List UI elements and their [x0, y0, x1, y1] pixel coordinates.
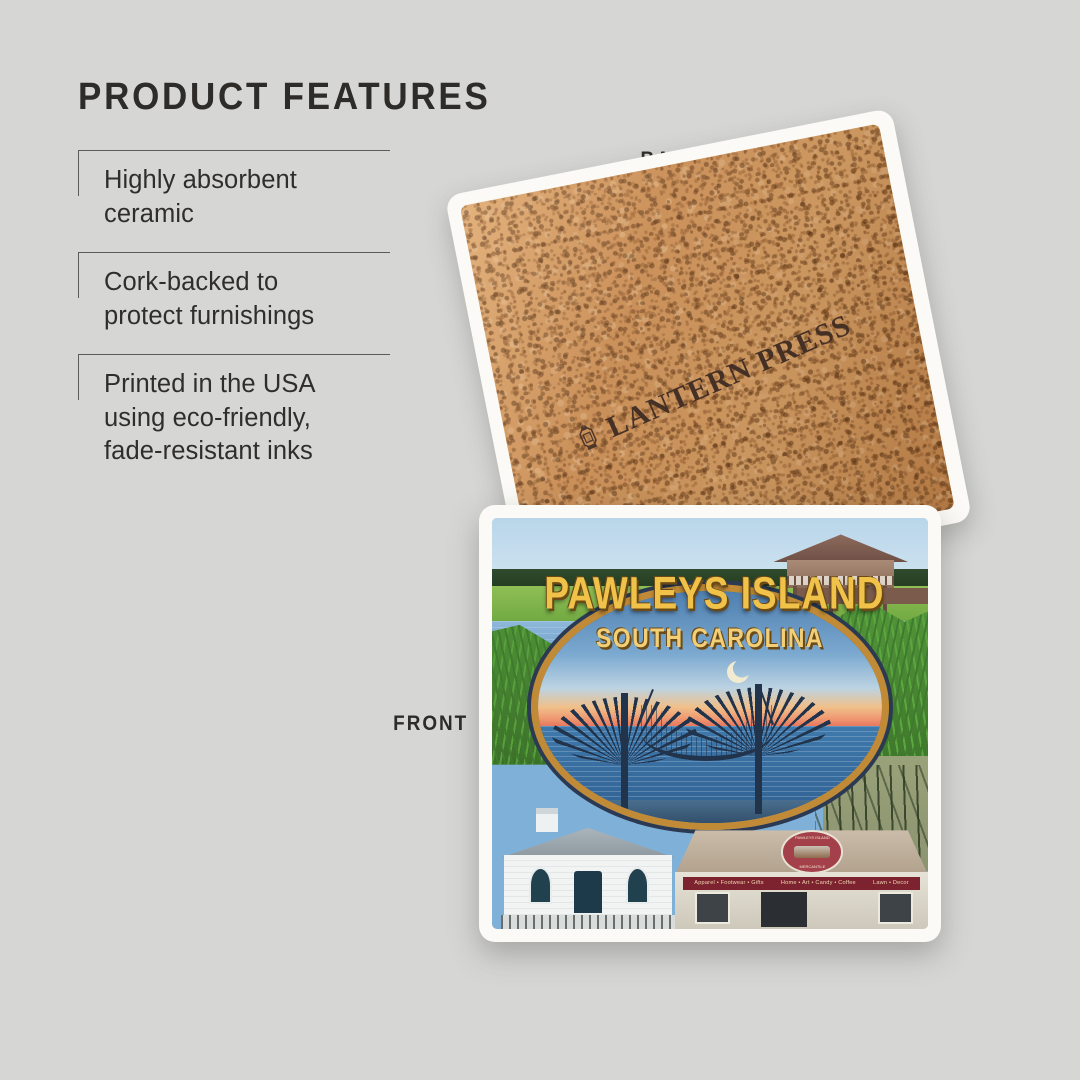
store-door [761, 892, 807, 928]
chapel-cupola [536, 808, 559, 832]
artwork-title-block: PAWLEYS ISLAND SOUTH CAROLINA [544, 576, 875, 653]
artwork-title: PAWLEYS ISLAND [544, 572, 875, 615]
chapel-window [626, 867, 649, 903]
label-front: FRONT [393, 712, 468, 736]
divider [78, 252, 390, 253]
brand-name: LANTERN PRESS [601, 309, 856, 446]
divider-tick [78, 354, 79, 400]
store-window [695, 892, 729, 924]
artwork-subtitle: SOUTH CAROLINA [544, 623, 875, 654]
coaster-front-view: PAWLEYS ISLAND SOUTH CAROLINA PAWLEYS IS… [479, 505, 941, 942]
feature-list: Highly absorbent ceramic Cork-backed to … [78, 150, 408, 489]
feature-text: Printed in the USA using eco-friendly, f… [104, 368, 408, 470]
divider [78, 150, 390, 151]
store-sign-segment: Lawn • Decor [873, 880, 909, 886]
mercantile-storefront: PAWLEYS ISLAND MERCANTILE Apparel • Foot… [675, 830, 928, 929]
palm-tree-left [621, 693, 628, 814]
mercantile-seal: PAWLEYS ISLAND MERCANTILE [781, 830, 843, 873]
chapel-deck-railing [501, 915, 675, 929]
feature-text: Cork-backed to protect furnishings [104, 266, 408, 334]
list-item: Printed in the USA using eco-friendly, f… [78, 354, 408, 490]
divider [78, 354, 390, 355]
chapel-roof [501, 828, 675, 858]
divider-tick [78, 150, 79, 196]
store-sign-band: Apparel • Footwear • Gifts Home • Art • … [683, 877, 921, 890]
product-image-canvas: PRODUCT FEATURES Highly absorbent cerami… [0, 0, 1080, 1080]
crescent-moon-icon [727, 661, 749, 683]
seal-top-text: PAWLEYS ISLAND [795, 835, 829, 840]
woody-wagon-icon [794, 846, 830, 858]
hammock [641, 705, 772, 761]
feature-text: Highly absorbent ceramic [104, 164, 408, 232]
store-sign-segment: Apparel • Footwear • Gifts [694, 880, 763, 886]
chapel-window [529, 867, 552, 903]
list-item: Cork-backed to protect furnishings [78, 252, 408, 354]
seal-bottom-text: MERCANTILE [800, 864, 826, 869]
lantern-icon [570, 420, 605, 457]
divider-tick [78, 252, 79, 298]
white-chapel [501, 814, 675, 929]
artwork: PAWLEYS ISLAND SOUTH CAROLINA PAWLEYS IS… [492, 518, 928, 929]
product-features-panel: PRODUCT FEATURES Highly absorbent cerami… [78, 78, 408, 489]
store-window [878, 892, 912, 924]
store-sign-segment: Home • Art • Candy • Coffee [781, 880, 856, 886]
chapel-door [574, 871, 602, 912]
page-title: PRODUCT FEATURES [78, 78, 382, 116]
dock-roof [773, 534, 909, 562]
list-item: Highly absorbent ceramic [78, 150, 408, 252]
brand-stamp: LANTERN PRESS [569, 309, 856, 460]
